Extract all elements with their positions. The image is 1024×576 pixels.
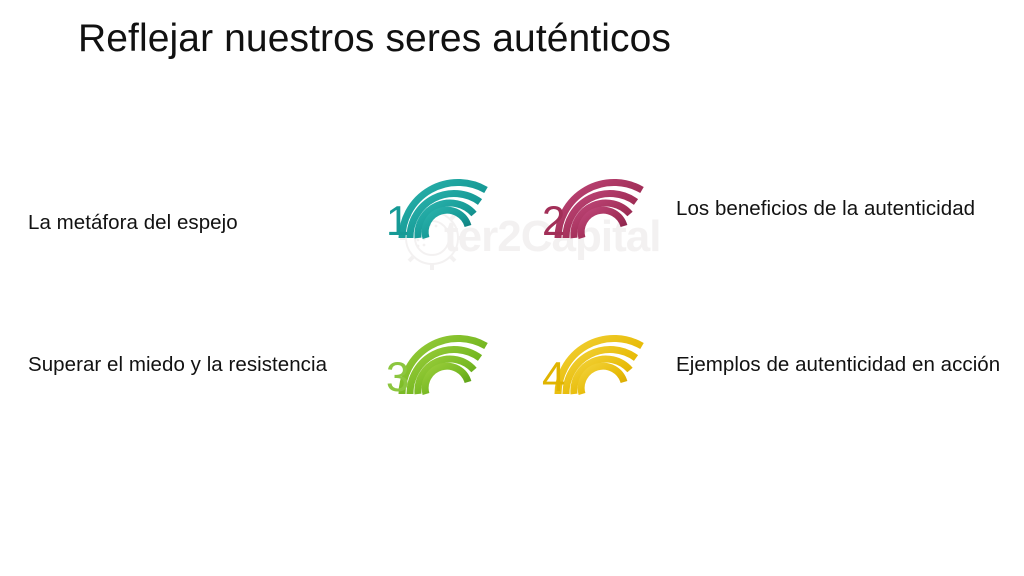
slide-canvas: Reflejar nuestros seres auténticos ter2C…	[0, 0, 1024, 576]
icon-number-2: 2	[542, 200, 565, 242]
icon-number-1: 1	[386, 200, 409, 242]
item-label-4: Ejemplos de autenticidad en acción	[676, 350, 1021, 379]
arc-rainbow-icon-1: 1	[384, 182, 514, 274]
icon-number-3: 3	[386, 356, 409, 398]
arc-rainbow-icon-2: 2	[540, 182, 670, 274]
icon-number-4: 4	[542, 356, 565, 398]
arc-rainbow-icon-4: 4	[540, 338, 670, 430]
item-label-2: Los beneficios de la autenticidad	[676, 194, 1006, 223]
arc-rainbow-icon-3: 3	[384, 338, 514, 430]
item-label-1: La metáfora del espejo	[28, 208, 358, 237]
item-label-3: Superar el miedo y la resistencia	[28, 350, 358, 379]
page-title: Reflejar nuestros seres auténticos	[78, 16, 671, 62]
